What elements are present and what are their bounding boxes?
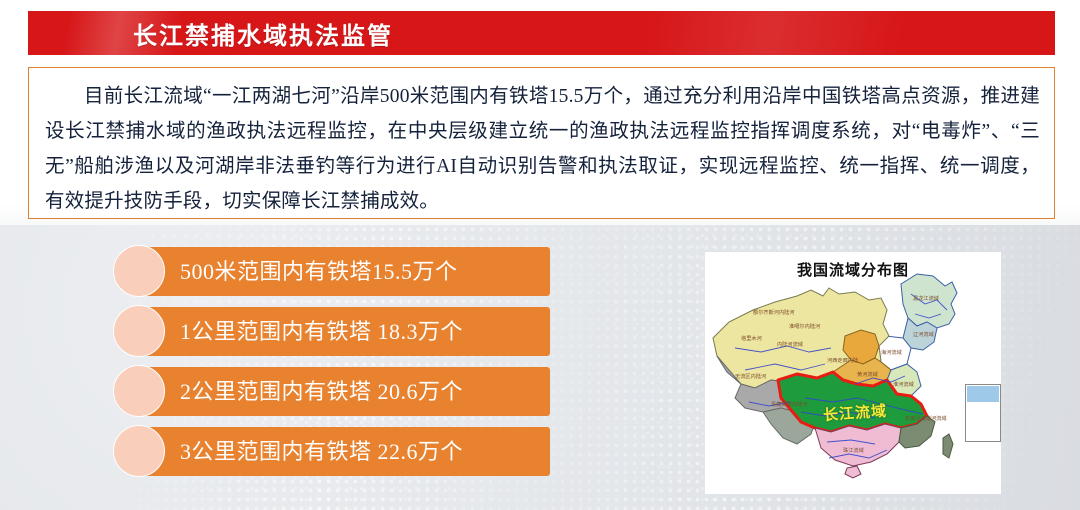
slide-root: 长江禁捕水域执法监管 目前长江流域“一江两湖七河”沿岸500米范围内有铁塔15.… — [0, 0, 1080, 510]
description-panel: 目前长江流域“一江两湖七河”沿岸500米范围内有铁塔15.5万个，通过充分利用沿… — [28, 67, 1055, 219]
title-banner: 长江禁捕水域执法监管 — [28, 11, 1055, 55]
bullet-circle-icon — [113, 305, 165, 357]
svg-text:准噶尔内陆河: 准噶尔内陆河 — [789, 322, 820, 330]
svg-text:珠江流域: 珠江流域 — [843, 446, 864, 454]
bullet-circle-icon — [113, 425, 165, 477]
svg-text:内陆河流域: 内陆河流域 — [777, 340, 803, 348]
yangtze-basin-label: 长江流域 — [822, 400, 887, 425]
china-basin-map-graphic: 黑龙江流域 辽河流域 海河流域 黄河流域 淮河流域 内陆河流域 塔里木河 额尔齐… — [705, 252, 1001, 494]
svg-text:塔里木河: 塔里木河 — [741, 334, 762, 342]
map-inset-box — [965, 384, 1001, 442]
svg-text:淮河流域: 淮河流域 — [893, 380, 914, 388]
svg-text:黑龙江流域: 黑龙江流域 — [913, 294, 939, 302]
bar-label: 500米范围内有铁塔15.5万个 — [180, 247, 458, 296]
svg-text:辽河流域: 辽河流域 — [913, 330, 934, 338]
map-inset-water — [967, 386, 999, 402]
svg-text:东南沿海诸河流域: 东南沿海诸河流域 — [905, 414, 947, 422]
list-item[interactable]: 500米范围内有铁塔15.5万个 — [113, 247, 550, 296]
bullet-circle-icon — [113, 245, 165, 297]
svg-text:黄河流域: 黄河流域 — [857, 370, 878, 378]
map-title: 我国流域分布图 — [705, 259, 1001, 280]
bar-label: 1公里范围内有铁塔 18.3万个 — [180, 307, 463, 356]
svg-text:青藏高原内陆河: 青藏高原内陆河 — [771, 400, 807, 408]
river-basin-map-image[interactable]: 我国流域分布图 — [705, 252, 1001, 494]
page-title: 长江禁捕水域执法监管 — [133, 16, 393, 51]
svg-text:河西走廊内陆: 河西走廊内陆 — [827, 356, 858, 364]
statistics-bar-list: 500米范围内有铁塔15.5万个 1公里范围内有铁塔 18.3万个 2公里范围内… — [113, 247, 550, 487]
list-item[interactable]: 1公里范围内有铁塔 18.3万个 — [113, 307, 550, 356]
bar-label: 2公里范围内有铁塔 20.6万个 — [180, 367, 463, 416]
bar-label: 3公里范围内有铁塔 22.6万个 — [180, 427, 463, 476]
list-item[interactable]: 2公里范围内有铁塔 20.6万个 — [113, 367, 550, 416]
svg-text:额尔齐斯河内陆河: 额尔齐斯河内陆河 — [753, 308, 795, 316]
svg-text:无流区内陆河: 无流区内陆河 — [735, 372, 766, 380]
bullet-circle-icon — [113, 365, 165, 417]
list-item[interactable]: 3公里范围内有铁塔 22.6万个 — [113, 427, 550, 476]
description-text: 目前长江流域“一江两湖七河”沿岸500米范围内有铁塔15.5万个，通过充分利用沿… — [45, 79, 1040, 219]
svg-text:海河流域: 海河流域 — [881, 348, 902, 356]
